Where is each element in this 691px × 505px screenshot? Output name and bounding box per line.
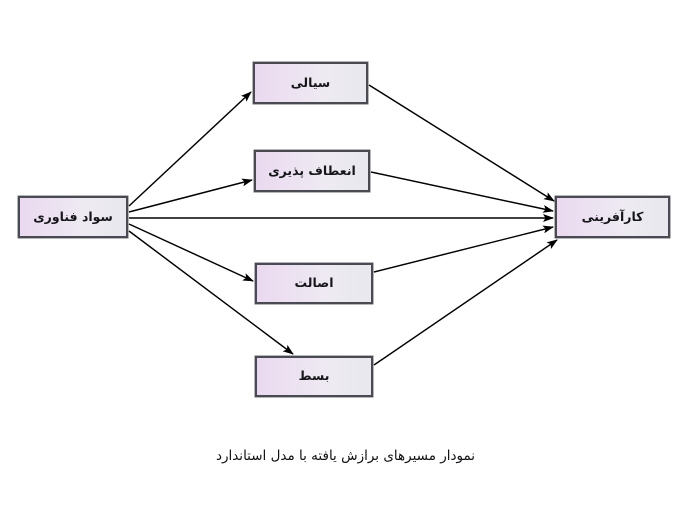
node-label-flexibility: انعطاف پذیری: [268, 164, 356, 178]
node-label-originality: اصالت: [295, 276, 334, 290]
node-entrepreneurship[interactable]: کارآفرینی: [555, 196, 670, 238]
node-label-tech-literacy: سواد فناوری: [33, 210, 113, 224]
path-arrows: [129, 85, 557, 365]
node-label-fluency: سیالی: [291, 76, 330, 90]
figure-canvas: سواد فناوری سیالی انعطاف پذیری اصالت بسط…: [0, 0, 691, 505]
edge-originality-to-entrepreneurship: [374, 227, 553, 272]
edge-tech_literacy-to-originality: [129, 224, 253, 281]
edge-fluency-to-entrepreneurship: [369, 85, 554, 201]
node-tech-literacy[interactable]: سواد فناوری: [18, 196, 128, 238]
node-elaboration[interactable]: بسط: [255, 356, 373, 397]
node-flexibility[interactable]: انعطاف پذیری: [254, 150, 370, 192]
node-originality[interactable]: اصالت: [255, 263, 373, 304]
edge-flexibility-to-entrepreneurship: [371, 172, 553, 211]
edge-elaboration-to-entrepreneurship: [374, 240, 557, 365]
node-label-entrepreneurship: کارآفرینی: [582, 210, 644, 224]
figure-caption: نمودار مسیرهای برازش یافته با مدل استاند…: [0, 448, 691, 464]
node-fluency[interactable]: سیالی: [253, 62, 368, 104]
node-label-elaboration: بسط: [299, 369, 330, 383]
edge-tech_literacy-to-flexibility: [129, 180, 252, 212]
edge-tech_literacy-to-fluency: [129, 92, 251, 206]
